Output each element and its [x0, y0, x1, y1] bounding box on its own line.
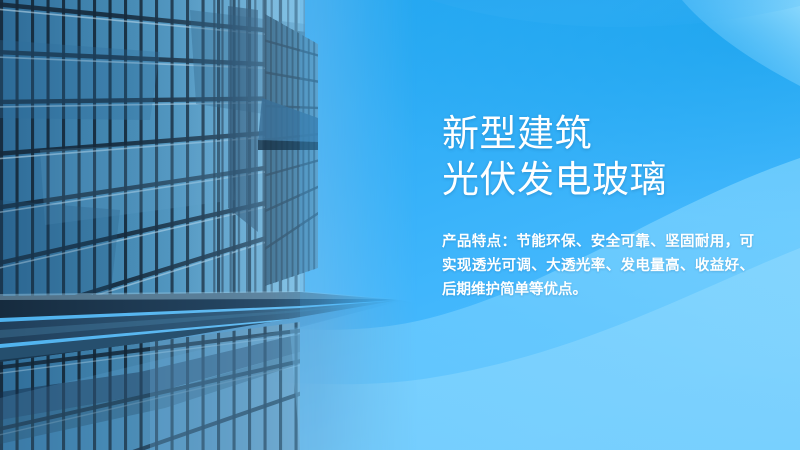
- tower-main-facade: [0, 0, 310, 327]
- product-features-text: 产品特点：节能环保、安全可靠、坚固耐用，可实现透光可调、大透光率、发电量高、收益…: [442, 230, 754, 302]
- headline-line-2: 光伏发电玻璃: [442, 158, 762, 202]
- product-banner: 新型建筑 光伏发电玻璃 产品特点：节能环保、安全可靠、坚固耐用，可实现透光可调、…: [0, 0, 800, 450]
- building-photo: [0, 0, 430, 450]
- headline-line-1: 新型建筑: [442, 112, 762, 156]
- page-title: 新型建筑 光伏发电玻璃: [442, 112, 762, 202]
- copy-block: 新型建筑 光伏发电玻璃 产品特点：节能环保、安全可靠、坚固耐用，可实现透光可调、…: [442, 112, 762, 302]
